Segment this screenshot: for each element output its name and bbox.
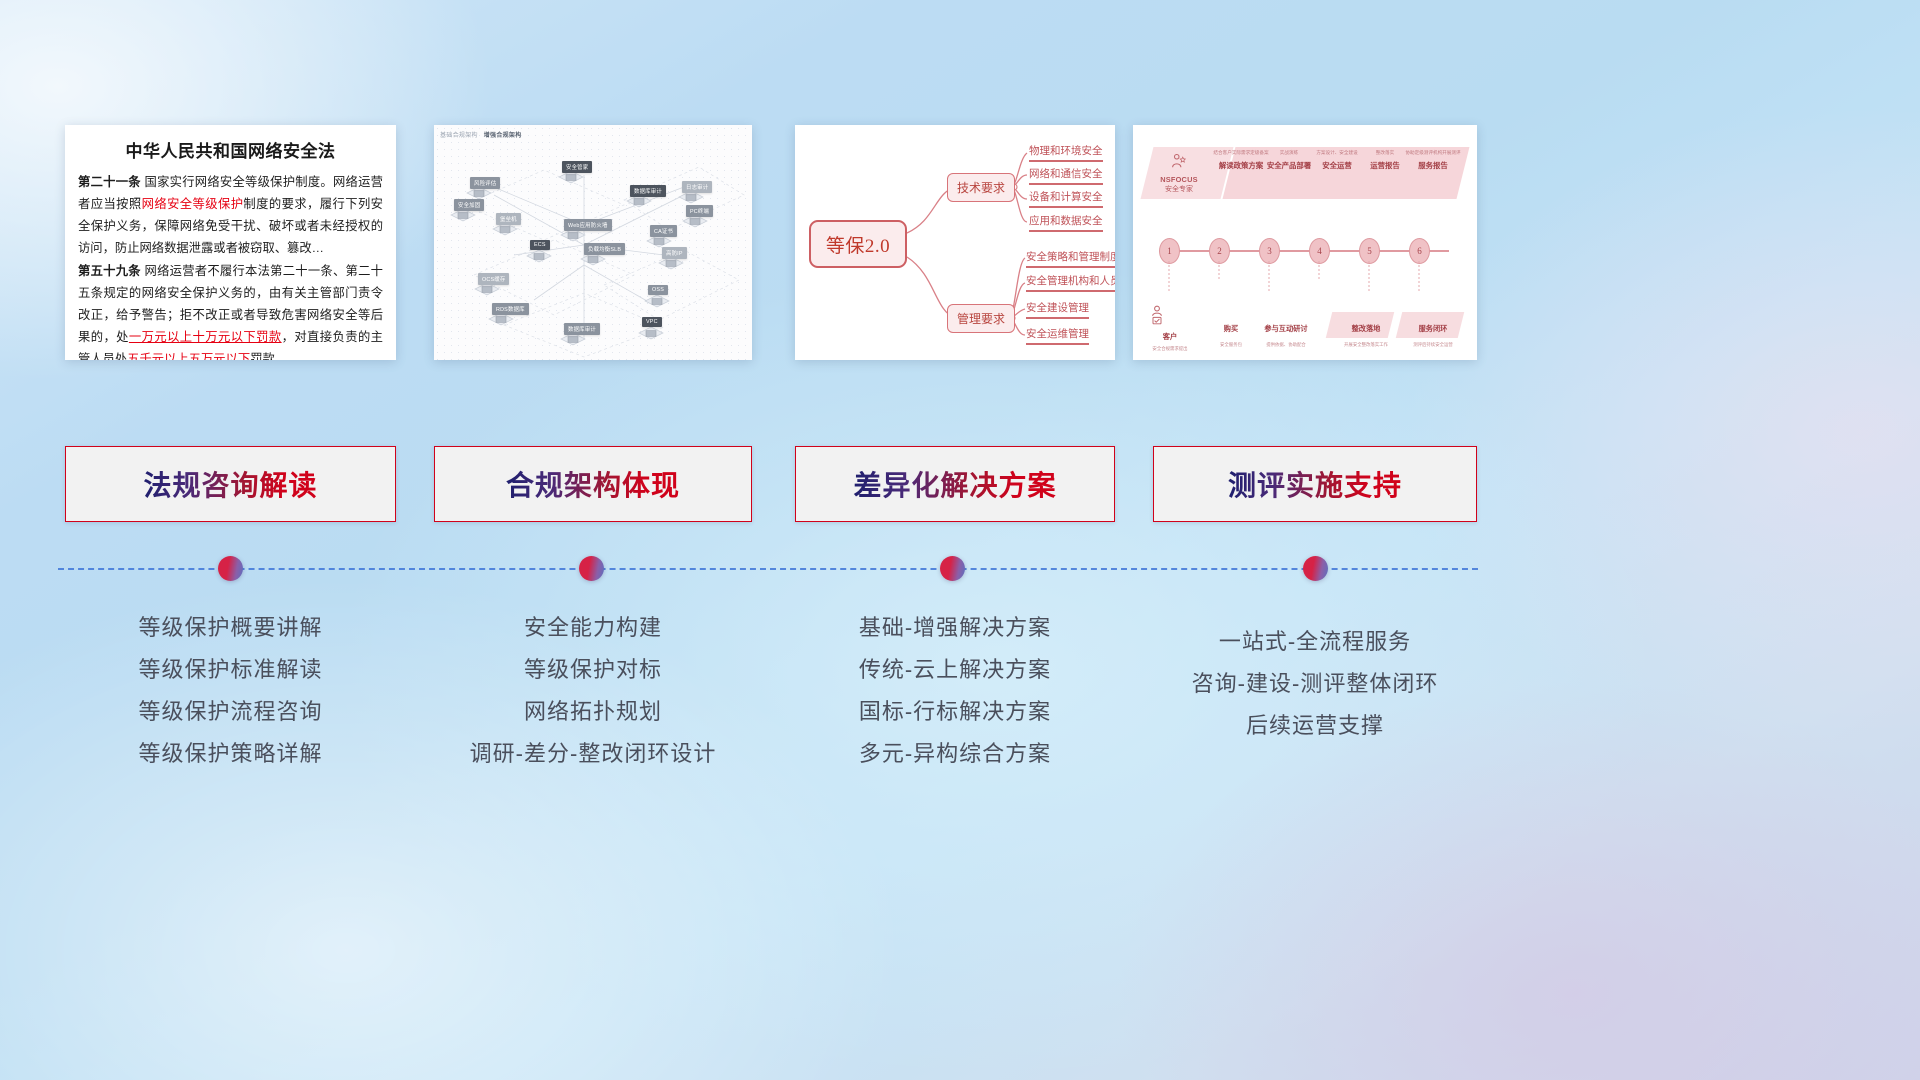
expert-person-icon [1170,153,1188,171]
law-document: 中华人民共和国网络安全法 第二十一条 国家实行网络安全等级保护制度。网络运营者应… [65,125,396,360]
timeline-dot-1[interactable] [218,556,243,581]
architecture-node-label[interactable]: CA证书 [650,225,677,237]
architecture-node-label[interactable]: OCS缓存 [478,273,509,285]
section-items-4: 一站式-全流程服务 咨询-建设-测评整体闭环 后续运营支撑 [1153,621,1477,747]
architecture-node-label[interactable]: PC终端 [686,205,713,217]
list-item: 等级保护流程咨询 [65,691,396,733]
architecture-node-label[interactable]: 风险评估 [470,177,500,189]
architecture-node-label[interactable]: VPC [642,317,662,327]
list-item: 一站式-全流程服务 [1153,621,1477,663]
architecture-node-label[interactable]: RDS数据库 [492,303,529,315]
mindmap: 等保2.0 技术要求 管理要求 物理和环境安全 网络和通信安全 设备和计算安全 … [795,125,1115,360]
nsfocus-process-diagram: NSFOCUS 安全专家 结合客户实际需求定级备案解读政策方案实战演练安全产品部… [1133,125,1477,360]
section-title-box-2[interactable]: 合规架构体现 [434,446,752,522]
architecture-node-label[interactable]: 数据库审计 [630,185,666,197]
card-compliance-architecture[interactable]: 基础合规架构 增强合规架构 安全管家风险评估安全加固堡垒机We [434,125,752,360]
customer-subtitle: 安全合规需求提出 [1139,346,1201,352]
architecture-node-shape [526,249,552,267]
architecture-node-label[interactable]: 数据库审计 [564,323,600,335]
mindmap-branch-technical: 技术要求 [947,173,1015,202]
list-item: 等级保护概要讲解 [65,607,396,649]
architecture-node-label[interactable]: OSS [648,285,668,295]
list-item: 等级保护标准解读 [65,649,396,691]
list-item: 等级保护对标 [434,649,752,691]
article-59-fine-2: 五千元以上五万元以下 [127,352,250,360]
architecture-node-label[interactable]: 安全加固 [454,199,484,211]
section-title-box-4[interactable]: 测评实施支持 [1153,446,1477,522]
mindmap-leaf-mgmt-2: 安全管理机构和人员 [1026,273,1115,292]
mindmap-root: 等保2.0 [809,220,907,268]
mindmap-branch-management: 管理要求 [947,304,1015,333]
architecture-node-label[interactable]: ECS [530,240,550,250]
timeline [58,568,1478,570]
mindmap-leaf-tech-1: 物理和环境安全 [1029,143,1103,162]
nsfocus-foot-sub: 开展安全整改落实工作 [1332,342,1400,348]
nsfocus-foot-label: 整改落地 [1338,324,1394,334]
nsfocus-foot-sub: 测评后持续安全运营 [1399,342,1467,348]
law-title: 中华人民共和国网络安全法 [78,137,383,162]
expert-role: 安全专家 [1151,185,1207,195]
article-59-label: 第五十九条 [78,264,141,278]
architecture-node-label[interactable]: 堡垒机 [496,213,521,225]
section-title-box-3[interactable]: 差异化解决方案 [795,446,1115,522]
section-title-4: 测评实施支持 [1228,464,1402,504]
nsfocus-foot-sub: 提供依据、协助配合 [1252,342,1320,348]
list-item: 咨询-建设-测评整体闭环 [1153,663,1477,705]
mindmap-leaf-mgmt-4: 安全运维管理 [1026,326,1089,345]
nsfocus-foot-label: 服务闭环 [1405,324,1461,334]
mindmap-leaf-tech-4: 应用和数据安全 [1029,213,1103,232]
image-cards-row: 中华人民共和国网络安全法 第二十一条 国家实行网络安全等级保护制度。网络运营者应… [0,125,1920,360]
law-article-21: 第二十一条 国家实行网络安全等级保护制度。网络运营者应当按照网络安全等级保护制度… [78,171,383,259]
architecture-node-shape [644,294,670,312]
nsfocus-foot-label: 购买 [1203,324,1259,334]
customer-title: 客户 [1143,332,1197,342]
timeline-dot-3[interactable] [940,556,965,581]
section-items-1: 等级保护概要讲解 等级保护标准解读 等级保护流程咨询 等级保护策略详解 [65,607,396,775]
card-cybersecurity-law[interactable]: 中华人民共和国网络安全法 第二十一条 国家实行网络安全等级保护制度。网络运营者应… [65,125,396,360]
mindmap-leaf-mgmt-1: 安全策略和管理制度 [1026,249,1115,268]
architecture-node-label[interactable]: 高防IP [662,247,687,259]
article-59-text-c: 罚款。 [250,352,287,360]
section-title-3: 差异化解决方案 [853,464,1056,504]
section-title-2: 合规架构体现 [506,464,680,504]
customer-person-icon [1149,305,1165,325]
nsfocus-header-small: 协助定级测评机构开展测评 [1405,149,1461,156]
article-21-highlight: 网络安全等级保护 [142,197,244,211]
architecture-diagram: 基础合规架构 增强合规架构 安全管家风险评估安全加固堡垒机We [434,125,752,360]
section-items-2: 安全能力构建 等级保护对标 网络拓扑规划 调研-差分-整改闭环设计 [434,607,752,775]
nsfocus-header-big: 服务报告 [1405,160,1461,171]
mindmap-leaf-tech-2: 网络和通信安全 [1029,166,1103,185]
list-item: 网络拓扑规划 [434,691,752,733]
timeline-dot-2[interactable] [579,556,604,581]
list-item: 安全能力构建 [434,607,752,649]
section-title-row: 法规咨询解读 合规架构体现 差异化解决方案 测评实施支持 [0,446,1920,522]
list-item: 传统-云上解决方案 [795,649,1115,691]
list-item: 等级保护策略详解 [65,733,396,775]
article-59-fine-1: 一万元以上十万元以下罚款 [129,330,282,344]
list-item: 后续运营支撑 [1153,705,1477,747]
card-mindmap-dengbao[interactable]: 等保2.0 技术要求 管理要求 物理和环境安全 网络和通信安全 设备和计算安全 … [795,125,1115,360]
article-21-label: 第二十一条 [78,175,141,189]
architecture-node-label[interactable]: 日志审计 [682,181,712,193]
section-title-1: 法规咨询解读 [143,464,317,504]
law-article-59: 第五十九条 网络运营者不履行本法第二十一条、第二十五条规定的网络安全保护义务的，… [78,260,383,360]
card-nsfocus-process[interactable]: NSFOCUS 安全专家 结合客户实际需求定级备案解读政策方案实战演练安全产品部… [1133,125,1477,360]
list-item: 多元-异构综合方案 [795,733,1115,775]
architecture-node-label[interactable]: Web应用防火墙 [564,219,612,231]
architecture-node-shape [638,326,664,344]
expert-name: NSFOCUS [1151,175,1207,185]
nsfocus-customer-icon [1149,305,1165,330]
nsfocus-foot-label: 参与互动研讨 [1258,324,1314,334]
timeline-dashed-line [58,568,1478,570]
architecture-node-label[interactable]: 安全管家 [562,161,592,173]
architecture-node-label[interactable]: 负载均衡SLB [584,243,625,255]
nsfocus-header-column: 协助定级测评机构开展测评服务报告 [1405,149,1461,171]
list-item: 国标-行标解决方案 [795,691,1115,733]
timeline-dot-4[interactable] [1303,556,1328,581]
nsfocus-step-links [1133,261,1477,307]
list-item: 基础-增强解决方案 [795,607,1115,649]
mindmap-leaf-mgmt-3: 安全建设管理 [1026,300,1089,319]
section-title-box-1[interactable]: 法规咨询解读 [65,446,396,522]
list-item: 调研-差分-整改闭环设计 [434,733,752,775]
section-items-3: 基础-增强解决方案 传统-云上解决方案 国标-行标解决方案 多元-异构综合方案 [795,607,1115,775]
nsfocus-expert: NSFOCUS 安全专家 [1151,153,1207,195]
mindmap-leaf-tech-3: 设备和计算安全 [1029,189,1103,208]
nsfocus-axis [1159,250,1449,252]
